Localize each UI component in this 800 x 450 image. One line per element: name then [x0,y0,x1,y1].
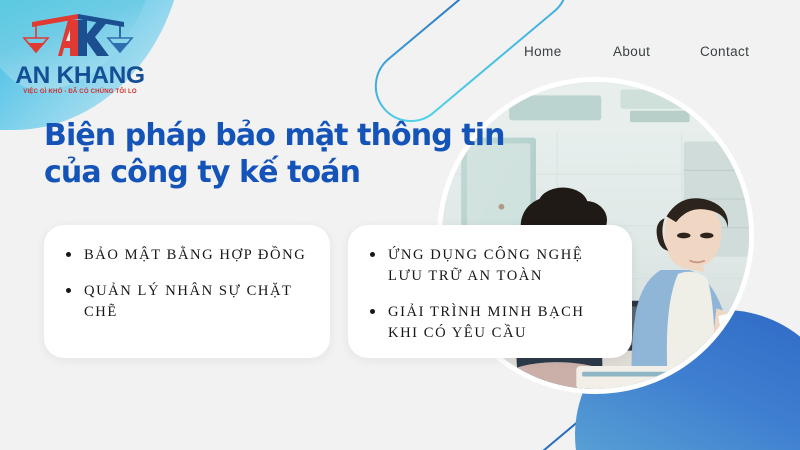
scales-of-justice-icon [8,4,148,66]
nav-item-about[interactable]: About [613,44,650,59]
list-item: Bảo mật bằng hợp đồng [66,245,312,266]
list-item: Ứng dụng công nghệ lưu trữ an toàn [370,245,614,287]
feature-card-left: Bảo mật bằng hợp đồng Quản lý nhân sự ch… [44,225,330,358]
page-title-line-2: của công ty kế toán [44,155,360,190]
slide-canvas: AN KHANG VIỆC GÌ KHÓ - ĐÃ CÓ CHÚNG TÔI L… [0,0,800,450]
brand-name: AN KHANG [14,62,146,90]
feature-list-left: Bảo mật bằng hợp đồng Quản lý nhân sự ch… [66,245,312,323]
list-item: Quản lý nhân sự chặt chẽ [66,281,312,323]
brand-logo[interactable]: AN KHANG VIỆC GÌ KHÓ - ĐÃ CÓ CHÚNG TÔI L… [8,4,148,104]
brand-tagline: VIỆC GÌ KHÓ - ĐÃ CÓ CHÚNG TÔI LO [14,88,146,95]
feature-list-right: Ứng dụng công nghệ lưu trữ an toàn Giải … [370,245,614,345]
nav-item-home[interactable]: Home [524,44,562,59]
nav-item-contact[interactable]: Contact [700,44,749,59]
feature-card-right: Ứng dụng công nghệ lưu trữ an toàn Giải … [348,225,632,358]
page-title: Biện pháp bảo mật thông tin của công ty … [44,118,514,191]
main-navigation[interactable]: Home About Contact [500,44,780,66]
page-title-line-1: Biện pháp bảo mật thông tin [44,118,505,153]
list-item: Giải trình minh bạch khi có yêu cầu [370,302,614,344]
